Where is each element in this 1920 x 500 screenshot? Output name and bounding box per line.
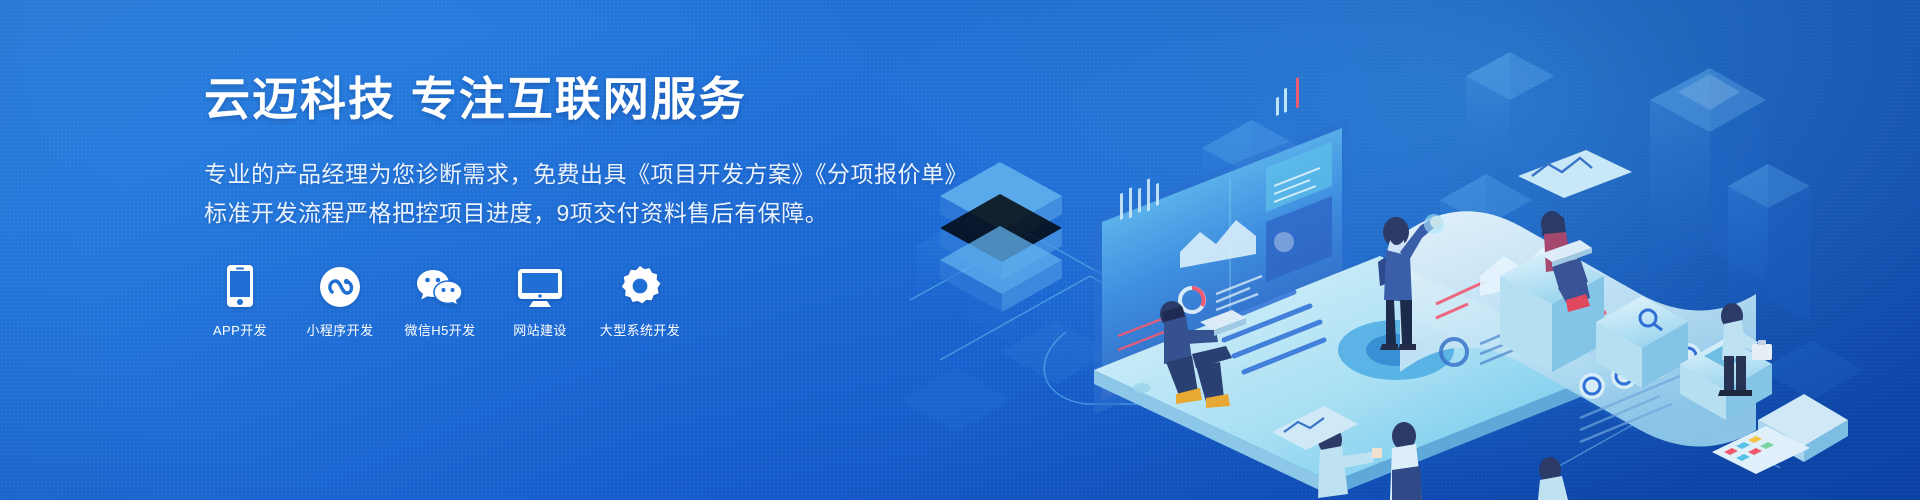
hero-banner: 云迈科技 专注互联网服务 专业的产品经理为您诊断需求，免费出具《项目开发方案》《…	[0, 0, 1920, 500]
service-label: APP开发	[213, 320, 267, 339]
page-title: 云迈科技 专注互联网服务	[204, 72, 924, 127]
service-item-website[interactable]: 网站建设	[504, 262, 576, 339]
service-label: 网站建设	[513, 320, 567, 339]
mobile-phone-icon	[226, 262, 254, 308]
gear-icon	[619, 262, 661, 308]
service-item-app[interactable]: APP开发	[204, 262, 276, 339]
service-item-miniprogram[interactable]: 小程序开发	[304, 262, 376, 339]
subtitle-line-2: 标准开发流程严格把控项目进度，9项交付资料售后有保障。	[204, 194, 924, 233]
service-list: APP开发 小程序开发	[204, 262, 924, 339]
subtitle-line-1: 专业的产品经理为您诊断需求，免费出具《项目开发方案》《分项报价单》	[204, 155, 924, 194]
isometric-tech-illustration	[880, 0, 1920, 500]
monitor-icon	[517, 262, 563, 308]
service-item-large-system[interactable]: 大型系统开发	[604, 262, 676, 339]
service-label: 大型系统开发	[600, 320, 680, 339]
mini-program-icon	[319, 262, 361, 308]
banner-content: 云迈科技 专注互联网服务 专业的产品经理为您诊断需求，免费出具《项目开发方案》《…	[204, 72, 924, 339]
service-item-wechat-h5[interactable]: 微信H5开发	[404, 262, 476, 339]
banner-subtitle: 专业的产品经理为您诊断需求，免费出具《项目开发方案》《分项报价单》 标准开发流程…	[204, 155, 924, 232]
service-label: 微信H5开发	[404, 320, 475, 339]
service-label: 小程序开发	[306, 320, 373, 339]
wechat-icon	[416, 262, 464, 308]
